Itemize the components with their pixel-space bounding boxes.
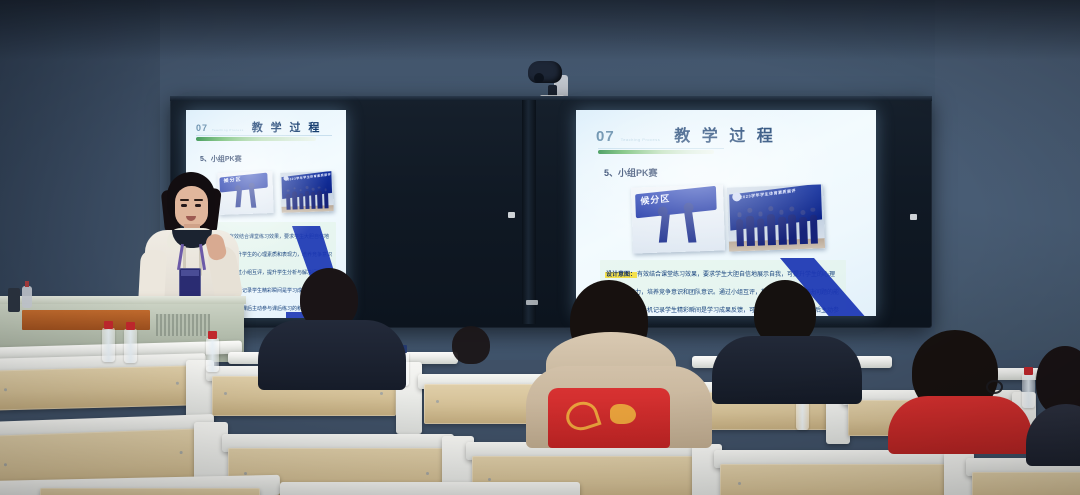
podium-bottle [22, 286, 32, 308]
classroom-scene: 07 Teaching Process 教 学 过 程 5、小组PK赛 候分区 [0, 0, 1080, 495]
attendee-red-vest [548, 388, 670, 448]
slide-right-item: 5、小组PK赛 [604, 166, 658, 179]
slide-right-title-rule [598, 150, 714, 154]
water-bottle-left [102, 328, 115, 362]
ceiling-shadow [0, 0, 1080, 60]
seat-back-d1[interactable] [40, 488, 260, 495]
presenter-badge [179, 268, 201, 298]
slide-right-photo-group: 2023学年学生体育素质展评 [727, 184, 825, 251]
slide-left-item: 5、小组PK赛 [200, 154, 242, 164]
attendee-distant-left [452, 326, 492, 366]
slide-right-section-sub: Teaching Process [621, 137, 661, 142]
slide-right-title: 教 学 过 程 [674, 122, 776, 146]
attendee-beige-hoodie-red-vest [508, 280, 708, 448]
seat-back-c5[interactable] [972, 472, 1080, 495]
slide-right-photo-waiting-area: 候分区 [631, 184, 725, 253]
slide-left-photo-group: 2023学年学生体育素质展评 [280, 171, 333, 213]
slide-left-title-rule-thin [196, 135, 332, 136]
seat-back-b1[interactable] [0, 365, 190, 410]
slide-right-section-number: 07 [596, 128, 615, 145]
attendee-back-right [1036, 346, 1080, 456]
water-bottle-center [206, 338, 219, 372]
housing-top-edge [170, 96, 932, 101]
slide-left-title: 教 学 过 程 [252, 119, 322, 135]
slide-left-section-sub: Teaching Process [212, 128, 244, 132]
thermos [8, 288, 20, 312]
slide-right-note-label: 设计意图： [605, 272, 637, 278]
slide-left-title-rule [196, 137, 316, 141]
seat-back-c4[interactable] [720, 464, 950, 495]
slide-left-section-number: 07 [196, 123, 208, 133]
slide-right-title-rule-thin [598, 148, 724, 149]
water-bottle-left-2 [124, 329, 137, 363]
attendee-red-top-glasses [876, 330, 1036, 450]
podium-surface [0, 296, 246, 304]
attendee-dark-jacket [258, 268, 406, 386]
display-indicator-right [910, 214, 917, 220]
attendee-dark-suit [712, 280, 862, 400]
seat-frame-d2[interactable] [280, 482, 580, 495]
display-indicator-left [508, 212, 515, 218]
